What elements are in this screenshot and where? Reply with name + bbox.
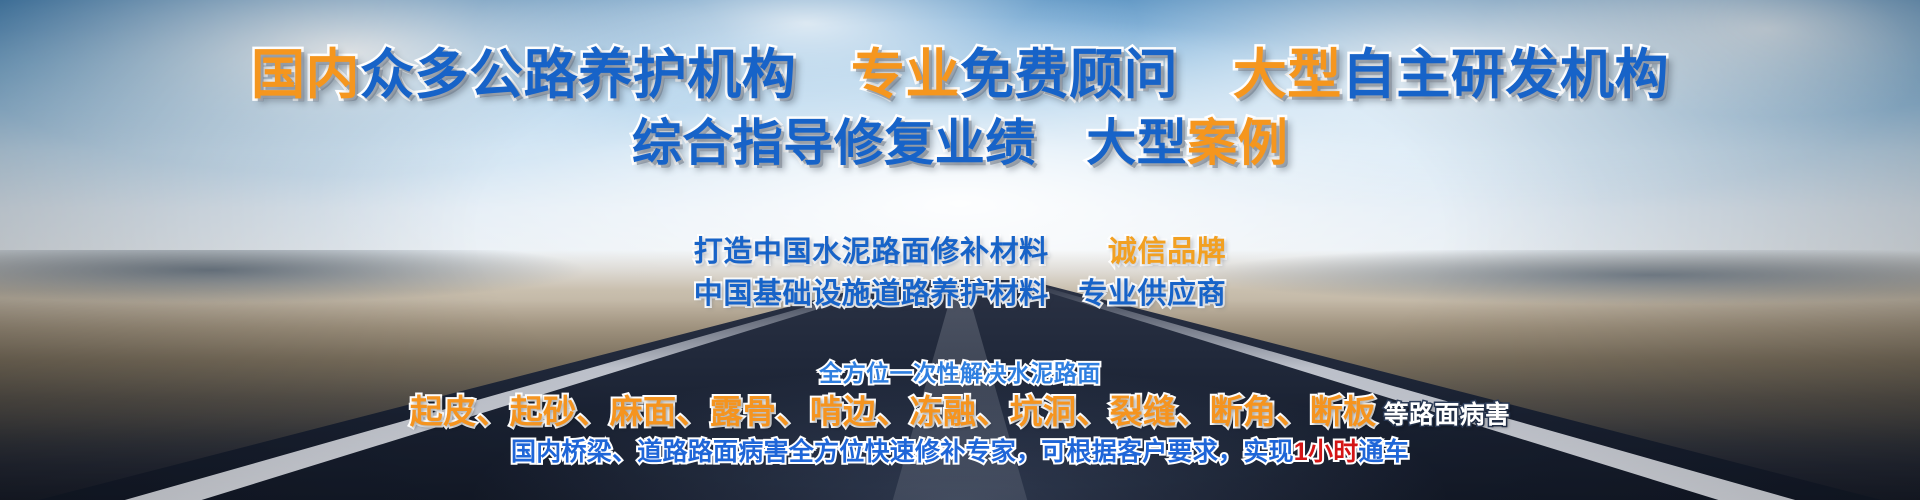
subheadline-1-seg-2: 诚信品牌 (1108, 236, 1226, 268)
headline-2-seg-1: 综合指导修复业绩 (632, 115, 1036, 171)
promotional-banner: 国内众多公路养护机构 专业免费顾问 大型自主研发机构 综合指导修复业绩 大型案例… (0, 0, 1920, 500)
subheadline-2-seg-2: 专业供应商 (1078, 278, 1226, 310)
headline-1-seg-2: 众多公路养护机构 (360, 45, 796, 105)
headline-2-seg-2: 大型 (1086, 115, 1187, 171)
bottom-intro-text: 全方位一次性解决水泥路面 (0, 362, 1920, 385)
headline-line-1: 国内众多公路养护机构 专业免费顾问 大型自主研发机构 (0, 48, 1920, 102)
headline-1-gap-2 (1178, 45, 1233, 105)
closing-highlight-duration: 1小时 (1294, 438, 1359, 466)
headline-1-gap-1 (796, 45, 851, 105)
headline-1-seg-1: 国内 (251, 45, 360, 105)
subheadline-line-1: 打造中国水泥路面修补材料 诚信品牌 (0, 238, 1920, 267)
headline-2-seg-3: 案例 (1187, 115, 1288, 171)
subheadline-1-seg-1: 打造中国水泥路面修补材料 (694, 236, 1049, 268)
headline-1-seg-3: 专业 (851, 45, 960, 105)
closing-seg-1: 国内桥梁、道路路面病害全方位快速修补专家，可根据客户要求，实现 (511, 438, 1294, 466)
headline-1-seg-4: 免费顾问 (960, 45, 1178, 105)
bottom-damage-list: 起皮、起砂、麻面、露骨、啃边、冻融、坑洞、裂缝、断角、断板 等路面病害 (0, 395, 1920, 428)
bottom-closing-text: 国内桥梁、道路路面病害全方位快速修补专家，可根据客户要求，实现1小时通车 (0, 440, 1920, 465)
headline-2-gap-1 (1036, 115, 1087, 171)
closing-seg-2: 通车 (1358, 438, 1409, 466)
banner-text-overlay: 国内众多公路养护机构 专业免费顾问 大型自主研发机构 综合指导修复业绩 大型案例… (0, 0, 1920, 500)
subheadline-line-2: 中国基础设施道路养护材料 专业供应商 (0, 280, 1920, 309)
damage-list-items: 起皮、起砂、麻面、露骨、啃边、冻融、坑洞、裂缝、断角、断板 (410, 393, 1377, 430)
subheadline-2-seg-1: 中国基础设施道路养护材料 (694, 278, 1049, 310)
headline-1-seg-5: 大型 (1233, 45, 1342, 105)
damage-list-suffix: 等路面病害 (1376, 401, 1510, 429)
headline-line-2: 综合指导修复业绩 大型案例 (0, 118, 1920, 168)
subheadline-2-gap-1 (1049, 278, 1079, 310)
subheadline-1-gap-1 (1049, 236, 1108, 268)
headline-1-seg-6: 自主研发机构 (1342, 45, 1669, 105)
